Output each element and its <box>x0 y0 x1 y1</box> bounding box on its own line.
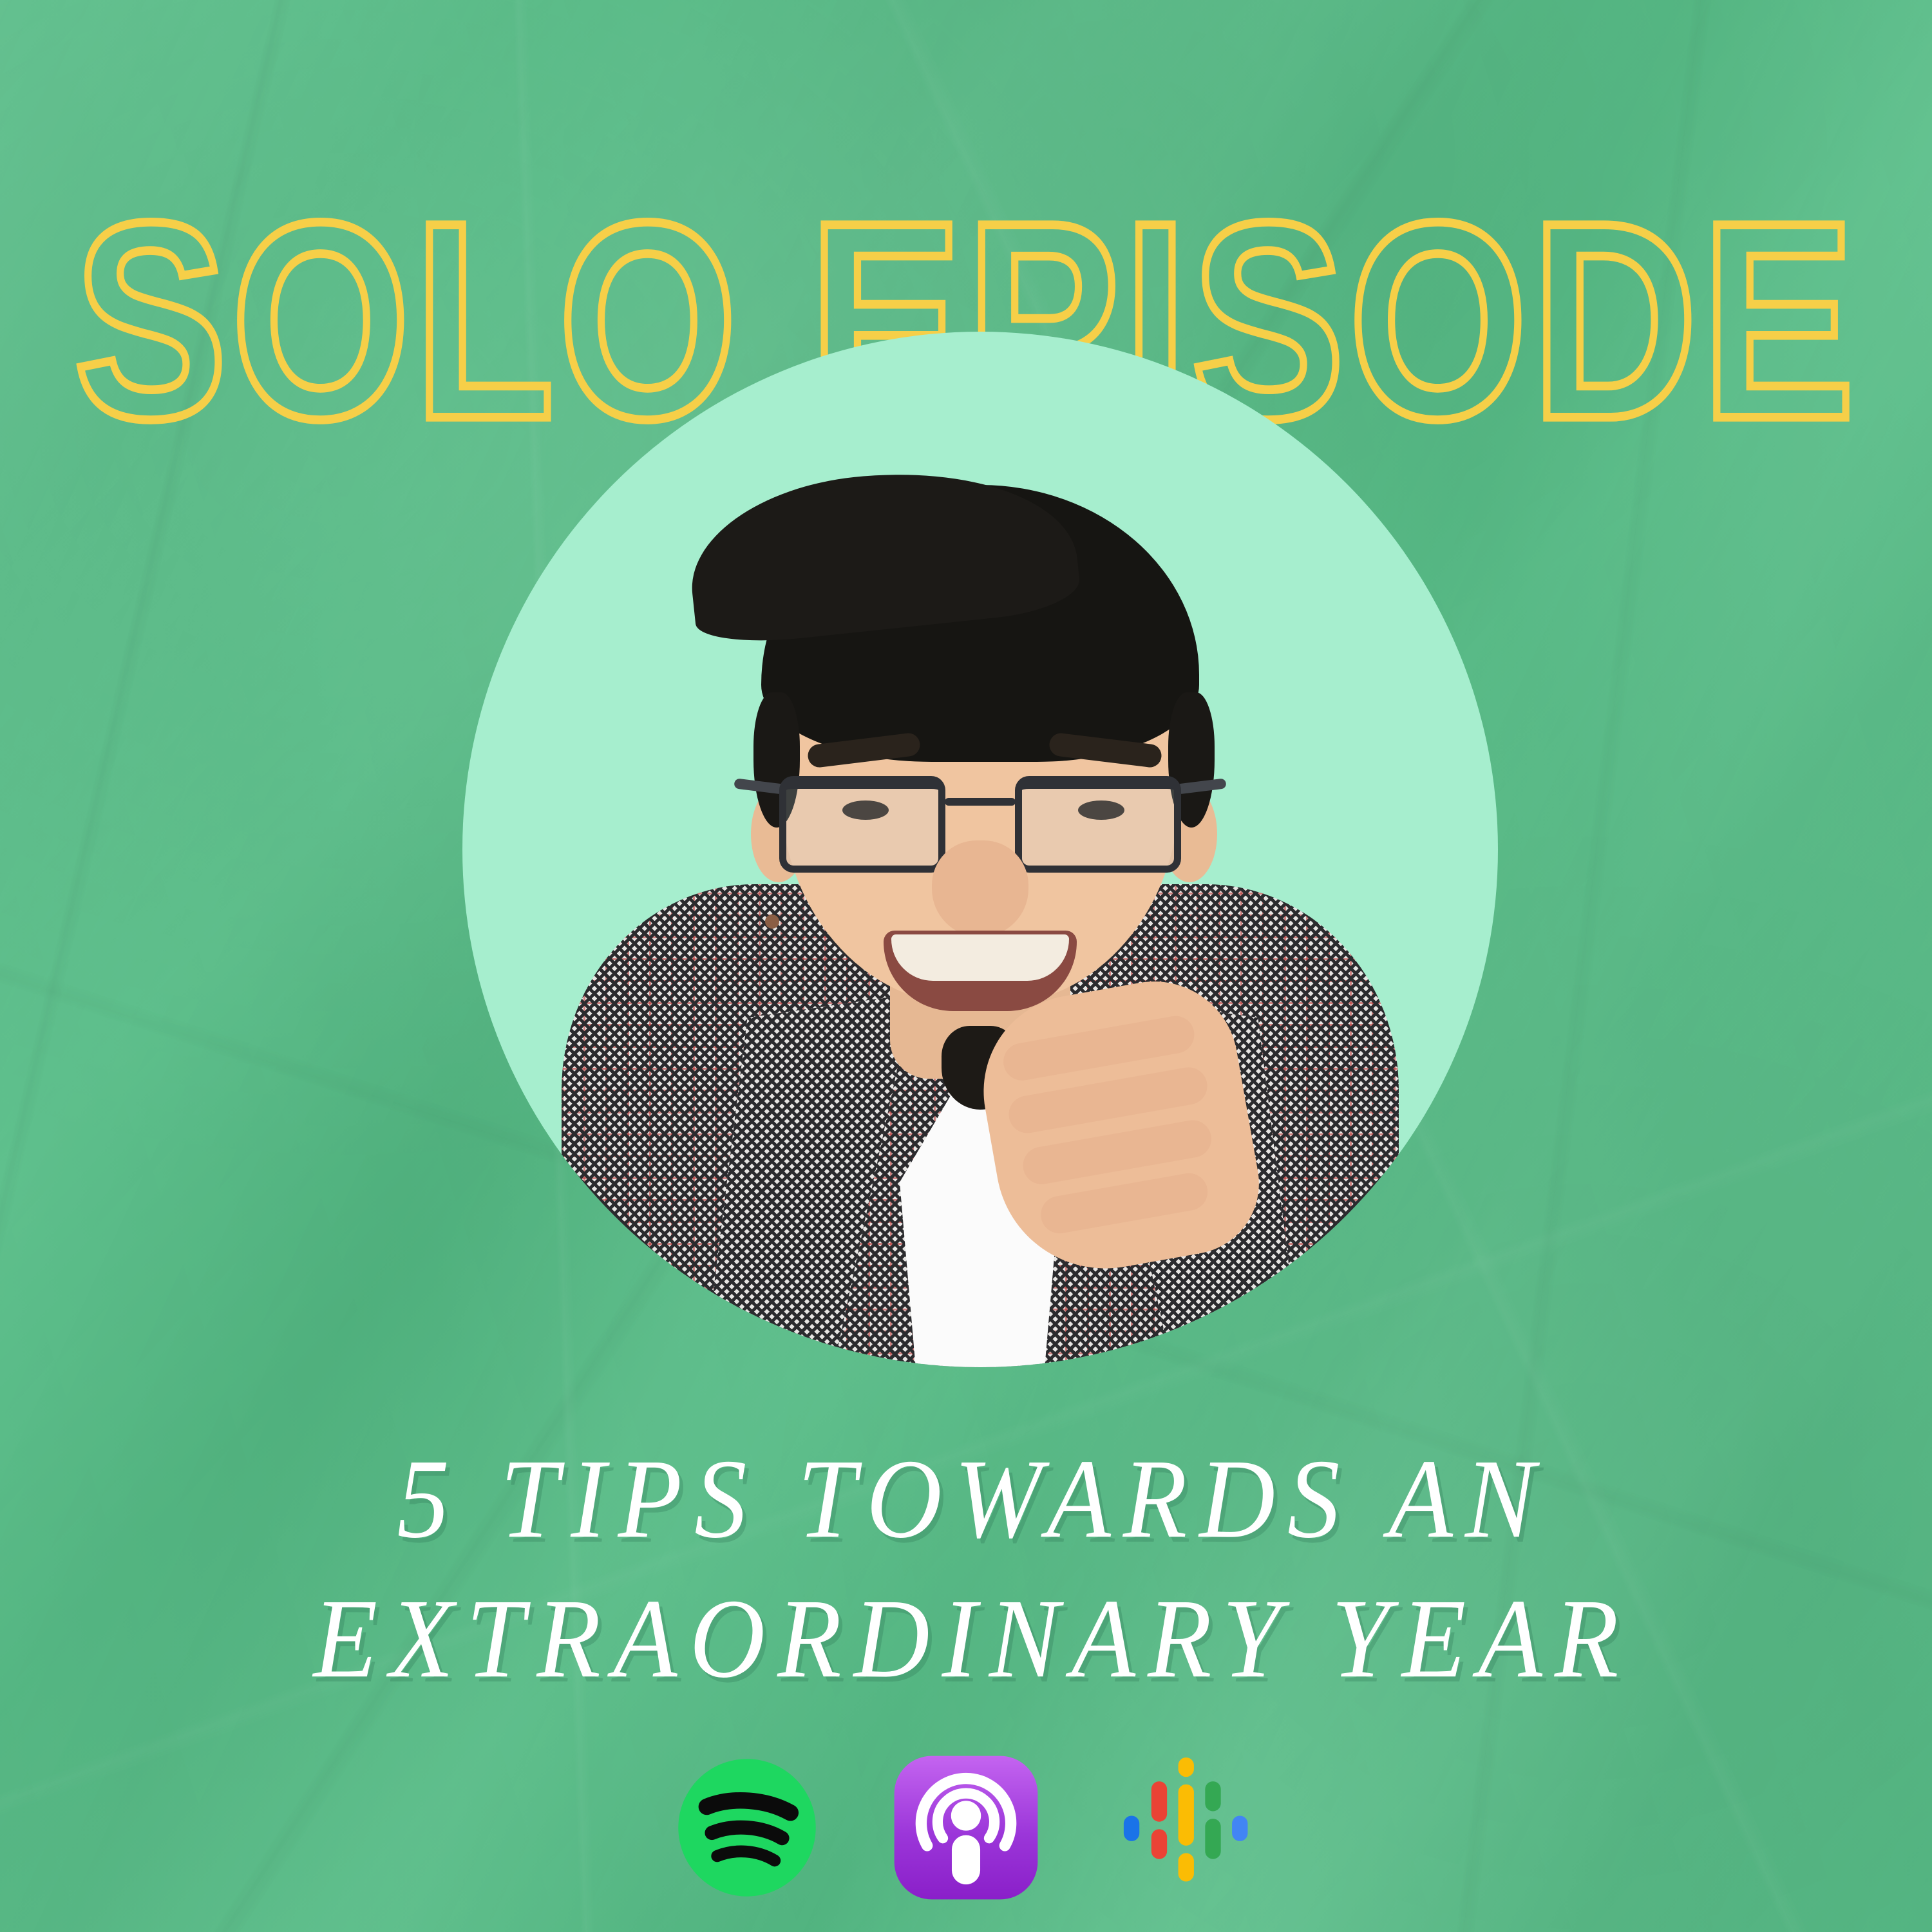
teeth <box>891 934 1069 981</box>
episode-title-line-2: EXTRAORDINARY YEAR <box>0 1564 1932 1714</box>
spotify-icon[interactable]: Spotify <box>672 1753 822 1902</box>
glasses-lens-right <box>1015 776 1181 873</box>
glasses-bridge <box>945 798 1016 806</box>
platform-icon-row: Spotify Apple Podcasts Googl <box>0 1753 1932 1902</box>
apple-podcasts-icon[interactable]: Apple Podcasts <box>891 1753 1041 1902</box>
nose <box>932 840 1028 937</box>
episode-title: 5 TIPS TOWARDS AN EXTRAORDINARY YEAR <box>0 1430 1932 1709</box>
podcast-cover-art: SOLO EPISODE <box>0 0 1932 1932</box>
cheek-mole <box>765 914 779 929</box>
google-podcasts-icon[interactable]: Google Podcasts <box>1110 1753 1260 1902</box>
host-portrait-illustration <box>462 332 1498 1367</box>
portrait-circle: Smiling man wearing glasses and a hounds… <box>462 332 1498 1367</box>
glasses-lens-left <box>779 776 945 873</box>
episode-title-line-1: 5 TIPS TOWARDS AN <box>0 1424 1932 1575</box>
